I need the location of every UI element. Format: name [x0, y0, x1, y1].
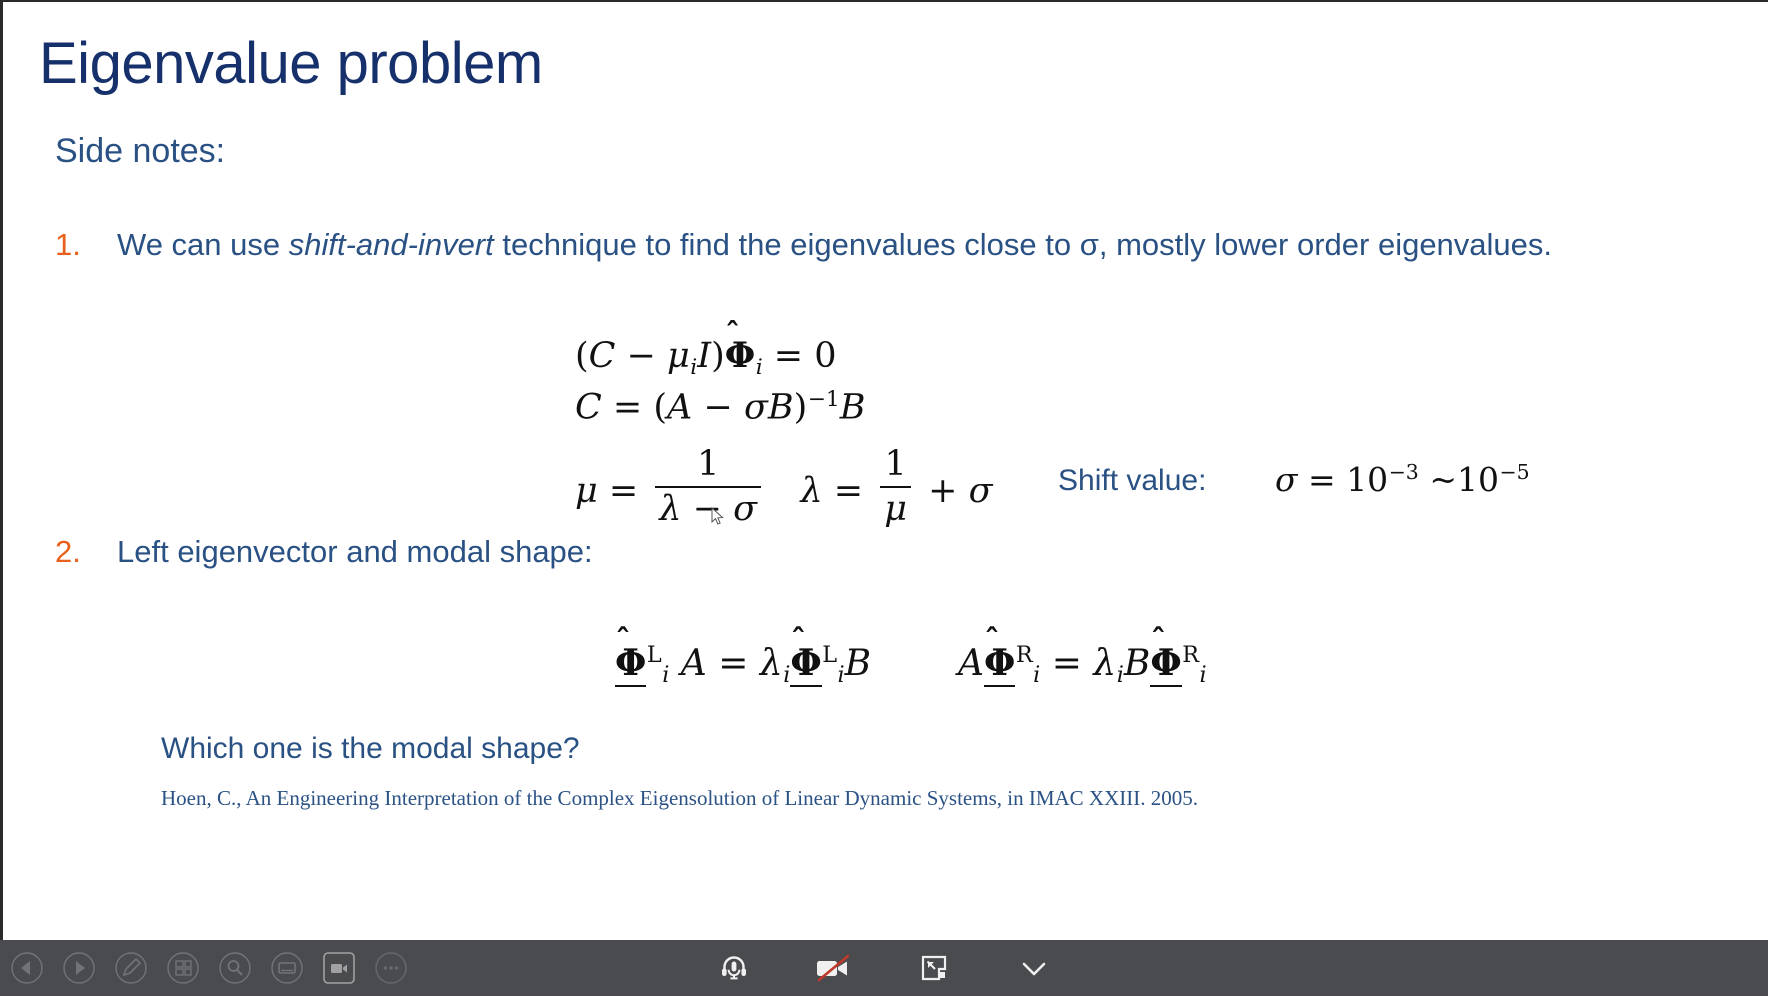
- bullet1-emphasis: shift-and-invert: [289, 227, 494, 262]
- list-item-text: We can use shift-and-invert technique to…: [117, 227, 1552, 263]
- page-title: Eigenvalue problem: [39, 34, 543, 95]
- citation-reference: Hoen, C., An Engineering Interpretation …: [161, 786, 1198, 811]
- shift-value-label: Shift value:: [1058, 464, 1206, 498]
- toolbar-center-group: [712, 948, 1056, 988]
- restore-window-icon[interactable]: [912, 948, 956, 988]
- modal-shape-question: Which one is the modal shape?: [161, 732, 580, 766]
- presentation-window: Eigenvalue problem Side notes: 1. We can…: [0, 0, 1768, 996]
- list-item-number: 1.: [55, 227, 117, 263]
- black-screen-icon[interactable]: [270, 951, 304, 985]
- headset-microphone-icon[interactable]: [712, 948, 756, 988]
- toolbar-left-group: [0, 951, 408, 985]
- presenter-toolbar: [0, 940, 1768, 996]
- equation-mu-lambda-relations: μ = 1 λ − σ λ = 1 μ + σ: [575, 445, 993, 529]
- next-slide-icon[interactable]: [62, 951, 96, 985]
- slide-canvas: Eigenvalue problem Side notes: 1. We can…: [0, 0, 1768, 940]
- bullet1-text-after: technique to find the eigenvalues close …: [494, 227, 1552, 262]
- list-item: 1. We can use shift-and-invert technique…: [55, 227, 1552, 263]
- list-item-text: Left eigenvector and modal shape:: [117, 534, 593, 570]
- section-heading: Side notes:: [55, 132, 225, 171]
- fraction-one-over-mu: 1 μ: [880, 445, 911, 529]
- equation-shift-value: σ = 10−3 ~10−5: [1275, 460, 1530, 499]
- equation-shift-invert-matrix: C = (A − σB)−1B: [575, 387, 865, 428]
- zoom-icon[interactable]: [218, 951, 252, 985]
- bullet1-text-before: We can use: [117, 227, 289, 262]
- equation-right-eigenvector: AΦ̂Ri = λiBΦ̂Ri: [958, 642, 1207, 688]
- annotate-pen-icon[interactable]: [114, 951, 148, 985]
- equation-eigenproblem: (C − μiI)Φ̂i = 0: [575, 335, 837, 380]
- fraction-one-over-lambda-minus-sigma: 1 λ − σ: [655, 445, 761, 529]
- previous-slide-icon[interactable]: [10, 951, 44, 985]
- list-item: 2. Left eigenvector and modal shape:: [55, 534, 593, 570]
- chevron-down-icon[interactable]: [1012, 948, 1056, 988]
- record-video-icon[interactable]: [322, 951, 356, 985]
- mouse-cursor-icon: [711, 507, 725, 527]
- more-options-icon[interactable]: [374, 951, 408, 985]
- equation-left-eigenvector: Φ̂Li A = λiΦ̂LiB: [615, 642, 871, 688]
- list-item-number: 2.: [55, 534, 117, 570]
- camera-off-icon[interactable]: [812, 948, 856, 988]
- all-slides-icon[interactable]: [166, 951, 200, 985]
